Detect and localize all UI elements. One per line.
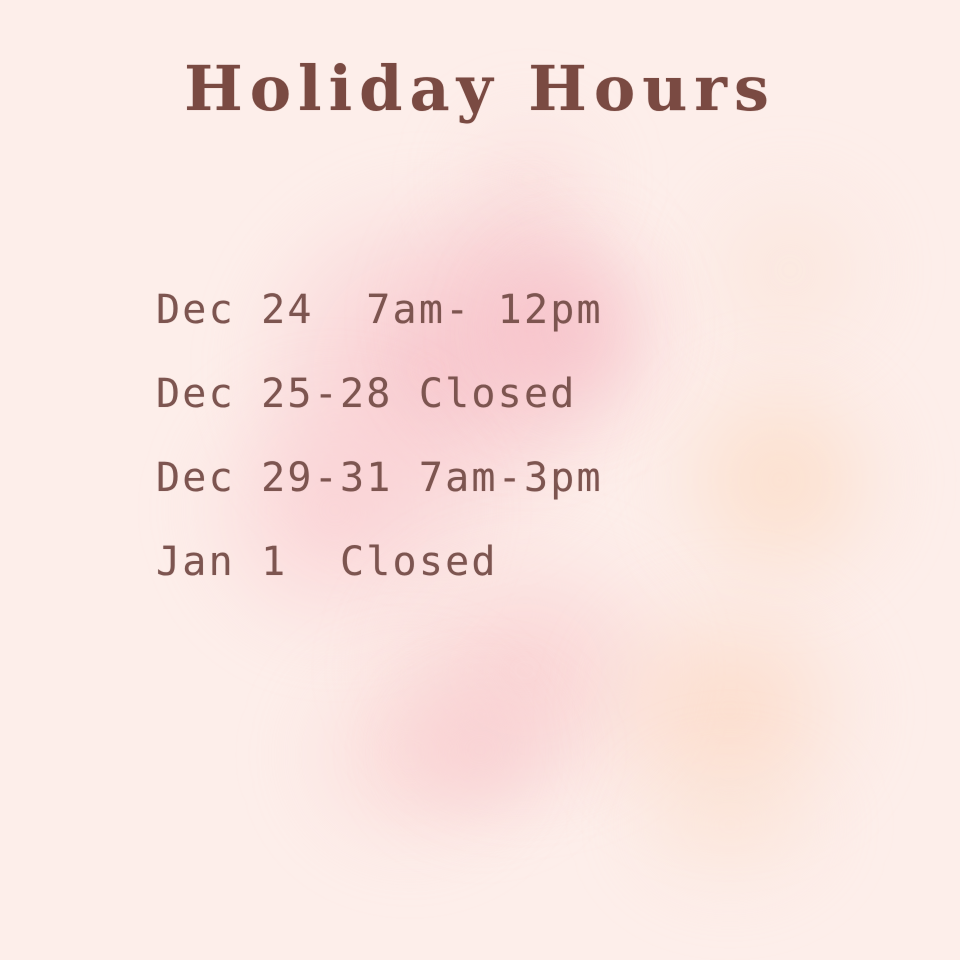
schedule-row-dec-29-31: Dec 29-31 7am-3pm xyxy=(156,436,896,520)
holiday-hours-graphic: Holiday Hours Dec 24 7am- 12pm Dec 25-28… xyxy=(0,0,960,960)
page-title: Holiday Hours xyxy=(0,52,960,125)
schedule-row-dec-25-28: Dec 25-28 Closed xyxy=(156,352,896,436)
content-area: Holiday Hours Dec 24 7am- 12pm Dec 25-28… xyxy=(0,0,960,960)
schedule-row-dec-24: Dec 24 7am- 12pm xyxy=(156,268,896,352)
schedule-row-jan-1: Jan 1 Closed xyxy=(156,520,896,604)
schedule-list: Dec 24 7am- 12pm Dec 25-28 Closed Dec 29… xyxy=(156,268,896,604)
